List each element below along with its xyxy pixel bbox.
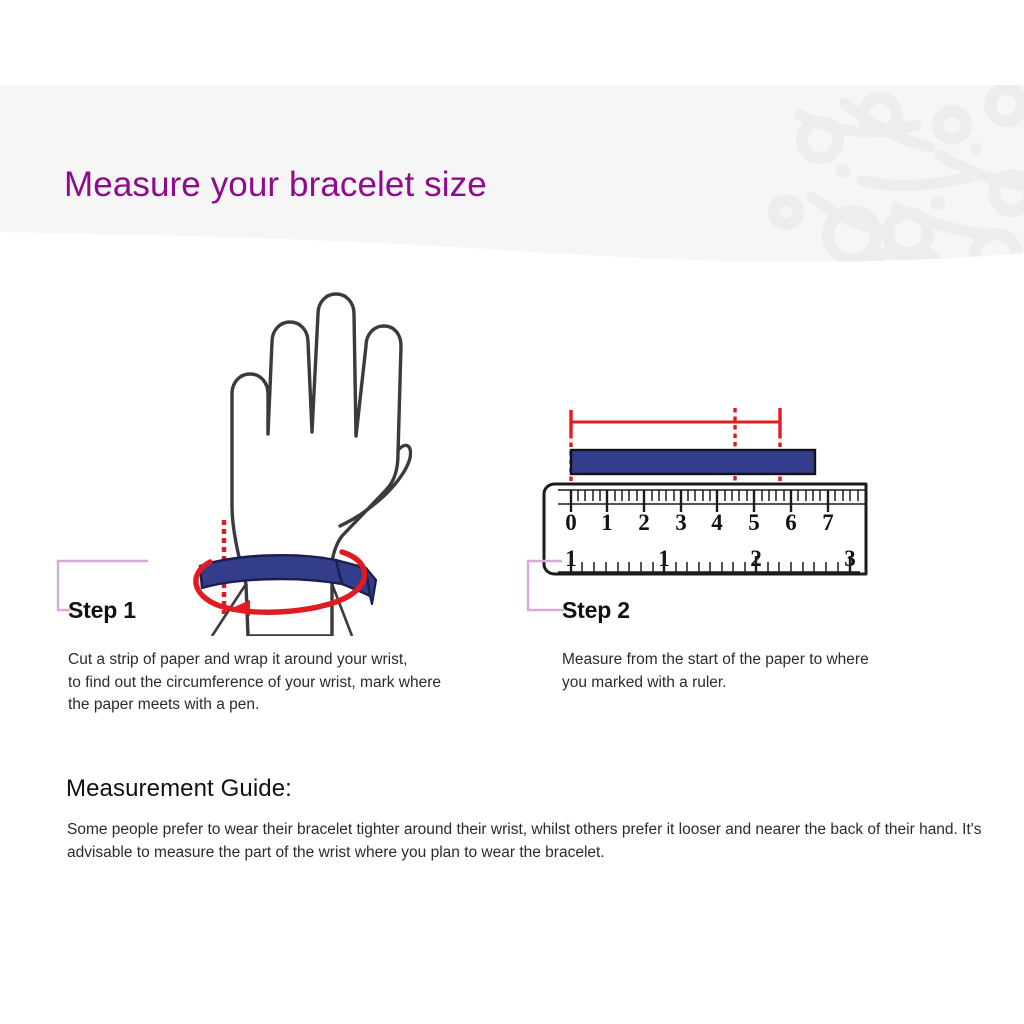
paper-strip-rect: [571, 450, 815, 474]
step-1-body: Cut a strip of paper and wrap it around …: [68, 649, 538, 717]
svg-text:3: 3: [675, 510, 687, 535]
step-2-label: Step 2: [562, 597, 630, 624]
svg-text:5: 5: [748, 510, 760, 535]
step-1-label: Step 1: [68, 597, 136, 624]
svg-text:4: 4: [711, 510, 723, 535]
svg-text:6: 6: [785, 510, 797, 535]
page-title: Measure your bracelet size: [64, 165, 487, 205]
step-2-body: Measure from the start of the paper to w…: [562, 649, 982, 694]
svg-text:2: 2: [638, 510, 650, 535]
svg-text:7: 7: [822, 510, 834, 535]
measurement-guide-heading: Measurement Guide:: [66, 775, 292, 803]
measurement-guide-body: Some people prefer to wear their bracele…: [67, 818, 982, 864]
svg-text:0: 0: [565, 510, 577, 535]
hand-with-paper-strip-illustration: [176, 284, 412, 636]
measurement-span: [571, 408, 780, 434]
bracelet-size-guide-page: Measure your bracelet size: [0, 0, 1024, 1024]
svg-text:1: 1: [601, 510, 613, 535]
